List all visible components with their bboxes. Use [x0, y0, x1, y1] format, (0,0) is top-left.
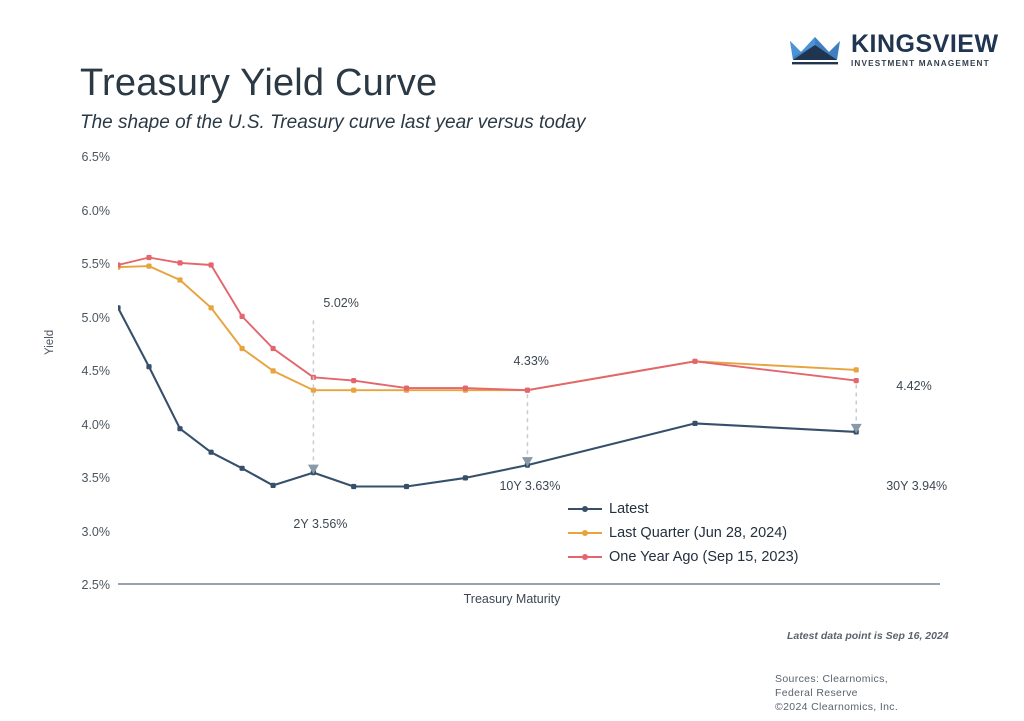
series-marker — [692, 359, 697, 364]
yield-curve-svg — [118, 158, 940, 586]
series-marker — [271, 346, 276, 351]
series-marker — [118, 262, 121, 267]
series-marker — [351, 378, 356, 383]
y-axis-tick-label: 5.5% — [58, 257, 110, 271]
legend-swatch-icon — [568, 551, 602, 563]
x-axis-title: Treasury Maturity — [0, 592, 1024, 606]
chart-page: KINGSVIEW INVESTMENT MANAGEMENT Treasury… — [0, 0, 1024, 721]
y-axis-tick-label: 3.5% — [58, 471, 110, 485]
series-marker — [146, 255, 151, 260]
ann-10y-latest: 10Y 3.63% — [499, 479, 560, 493]
series-marker — [404, 386, 409, 391]
series-marker — [351, 388, 356, 393]
series-marker — [240, 466, 245, 471]
series-marker — [271, 483, 276, 488]
series-marker — [209, 305, 214, 310]
legend-label: Latest — [609, 501, 649, 517]
series-marker — [146, 264, 151, 269]
legend-item[interactable]: Latest — [568, 497, 798, 521]
series-marker — [240, 346, 245, 351]
annotation-arrow-icon — [308, 465, 319, 475]
legend-label: One Year Ago (Sep 15, 2023) — [609, 549, 798, 565]
series-marker — [271, 368, 276, 373]
series-marker — [351, 484, 356, 489]
series-marker — [404, 484, 409, 489]
y-axis-tick-label: 2.5% — [58, 578, 110, 592]
series-line — [118, 308, 856, 487]
ann-30y-high: 4.42% — [896, 379, 931, 393]
series-marker — [209, 450, 214, 455]
series-marker — [240, 314, 245, 319]
series-marker — [177, 277, 182, 282]
legend-swatch-icon — [568, 527, 602, 539]
series-line — [118, 258, 856, 391]
ann-30y-latest: 30Y 3.94% — [886, 479, 947, 493]
y-axis-tick-label: 5.0% — [58, 311, 110, 325]
series-marker — [854, 367, 859, 372]
chart-legend: LatestLast Quarter (Jun 28, 2024)One Yea… — [568, 497, 798, 569]
series-marker — [463, 475, 468, 480]
legend-label: Last Quarter (Jun 28, 2024) — [609, 525, 787, 541]
y-axis-tick-label: 4.5% — [58, 364, 110, 378]
y-axis-title: Yield — [44, 330, 56, 355]
y-axis-tick-label: 6.5% — [58, 150, 110, 164]
plot-area — [118, 158, 940, 586]
series-marker — [854, 378, 859, 383]
latest-data-note: Latest data point is Sep 16, 2024 — [787, 630, 949, 642]
series-marker — [311, 388, 316, 393]
legend-swatch-icon — [568, 503, 602, 515]
legend-item[interactable]: One Year Ago (Sep 15, 2023) — [568, 545, 798, 569]
sources-note: Sources: Clearnomics, Federal Reserve ©2… — [775, 672, 898, 714]
series-marker — [209, 262, 214, 267]
ann-2y-latest: 2Y 3.56% — [293, 517, 347, 531]
series-marker — [463, 386, 468, 391]
ann-10y-high: 4.33% — [513, 354, 548, 368]
y-axis-tick-label: 3.0% — [58, 525, 110, 539]
series-marker — [525, 388, 530, 393]
legend-item[interactable]: Last Quarter (Jun 28, 2024) — [568, 521, 798, 545]
series-marker — [118, 305, 121, 310]
y-axis-tick-label: 4.0% — [58, 418, 110, 432]
series-marker — [692, 421, 697, 426]
series-marker — [177, 260, 182, 265]
series-line — [118, 266, 856, 390]
y-axis-tick-label: 6.0% — [58, 204, 110, 218]
series-marker — [177, 426, 182, 431]
series-marker — [146, 364, 151, 369]
ann-2y-high: 5.02% — [323, 296, 358, 310]
